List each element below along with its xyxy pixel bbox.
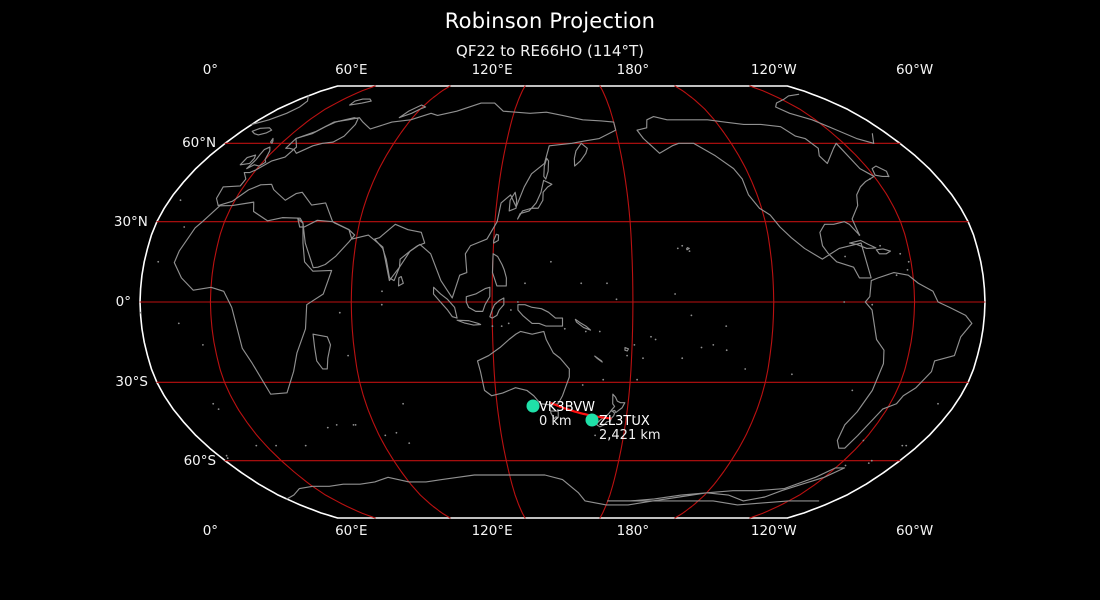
coastline-newfound (872, 166, 888, 176)
island-speck-20 (218, 408, 220, 410)
island-speck-11 (353, 424, 355, 426)
island-speck-63 (896, 274, 898, 276)
island-speck-47 (642, 357, 644, 359)
island-speck-72 (868, 462, 870, 464)
island-speck-74 (905, 445, 907, 447)
island-speck-23 (582, 384, 584, 386)
coastline-scandi (286, 118, 358, 154)
coastline-greenland (252, 96, 308, 124)
coastline-iceland (252, 128, 271, 135)
station-callsign-label-1: ZL3TUX (599, 414, 650, 429)
island-speck-14 (863, 440, 865, 442)
island-speck-43 (599, 331, 601, 333)
lon-tick-top-3: 180° (617, 62, 650, 78)
coastline-newcal (595, 356, 602, 362)
station-distance-label-0: 0 km (539, 414, 572, 429)
coastline-newguinea (518, 305, 563, 326)
island-speck-58 (681, 245, 683, 247)
island-speck-19 (327, 427, 329, 429)
coastline-kamchatka (574, 143, 587, 166)
island-speck-78 (384, 435, 386, 437)
island-speck-41 (492, 325, 494, 327)
station-marker-vk3bvw[interactable] (527, 400, 540, 413)
coastline-borneo (466, 287, 490, 311)
island-speck-37 (524, 282, 526, 284)
island-speck-76 (336, 424, 338, 426)
island-speck-30 (851, 390, 853, 392)
lat-tick-4: 60°S (0, 453, 216, 469)
island-speck-27 (725, 325, 727, 327)
island-speck-34 (606, 282, 608, 284)
island-speck-36 (550, 261, 552, 263)
island-speck-32 (871, 304, 873, 306)
island-speck-67 (869, 178, 871, 180)
coastline-greenland (776, 94, 874, 143)
coastline-fiji (625, 348, 629, 351)
island-speck-7 (381, 304, 383, 306)
lon-tick-top-5: 60°W (896, 62, 933, 78)
island-speck-48 (681, 357, 683, 359)
coastline-antarctica (287, 468, 845, 505)
island-speck-1 (178, 323, 180, 325)
coastline-java (457, 320, 481, 325)
island-speck-69 (212, 403, 214, 405)
island-speck-29 (791, 373, 793, 375)
island-speck-18 (255, 445, 257, 447)
coastline-india (375, 224, 425, 280)
island-speck-75 (937, 403, 939, 405)
island-speck-9 (347, 355, 349, 357)
island-speck-3 (180, 199, 182, 201)
island-speck-68 (888, 176, 890, 178)
coastline-eurasia (217, 103, 616, 298)
island-speck-24 (602, 379, 604, 381)
island-speck-8 (339, 312, 341, 314)
lon-tick-top-0: 0° (203, 62, 218, 78)
lon-tick-bottom-1: 60°E (335, 523, 367, 539)
island-speck-49 (634, 344, 636, 346)
island-speck-54 (674, 293, 676, 295)
island-speck-39 (510, 309, 512, 311)
coastline-gbritain_small (271, 139, 273, 144)
island-speck-42 (501, 325, 503, 327)
island-speck-17 (871, 460, 873, 462)
island-speck-13 (402, 403, 404, 405)
island-speck-28 (744, 368, 746, 370)
lon-tick-top-4: 120°W (751, 62, 797, 78)
coastline-australia (478, 331, 570, 405)
lat-tick-1: 30°N (0, 214, 148, 230)
coastline-hawaii (687, 248, 690, 250)
island-speck-25 (655, 339, 657, 341)
island-speck-66 (859, 234, 861, 236)
island-speck-51 (712, 344, 714, 346)
island-speck-31 (843, 301, 845, 303)
island-speck-53 (691, 315, 693, 317)
island-speck-60 (899, 253, 901, 255)
station-callsign-label-0: VK3BVW (539, 400, 595, 415)
island-speck-59 (689, 250, 691, 252)
island-speck-61 (908, 261, 910, 263)
lon-tick-top-2: 120°E (472, 62, 513, 78)
island-speck-65 (844, 256, 846, 258)
island-speck-70 (275, 445, 277, 447)
lon-tick-bottom-4: 120°W (751, 523, 797, 539)
coastline-srilanka (399, 277, 404, 286)
coastline-solomon (575, 319, 590, 330)
lat-tick-2: 0° (0, 294, 131, 310)
robinson-map (0, 0, 1100, 600)
coastline-ireland (240, 155, 255, 165)
island-speck-52 (726, 349, 728, 351)
coastline-africa (174, 202, 331, 394)
island-speck-64 (879, 245, 881, 247)
island-speck-2 (202, 344, 204, 346)
coastline-uk (247, 147, 270, 169)
island-speck-40 (508, 323, 510, 325)
coastline-namerica (637, 117, 874, 278)
island-speck-44 (585, 331, 587, 333)
island-speck-15 (901, 445, 903, 447)
lon-tick-bottom-3: 180° (617, 523, 650, 539)
island-speck-0 (140, 312, 142, 314)
lon-tick-bottom-5: 60°W (896, 523, 933, 539)
coastline-hispaniola (876, 249, 890, 254)
island-speck-12 (396, 432, 398, 434)
figure-canvas: Robinson Projection QF22 to RE66HO (114°… (0, 0, 1100, 600)
coastline-philippines (492, 254, 506, 286)
island-speck-21 (594, 435, 596, 437)
lon-tick-top-1: 60°E (335, 62, 367, 78)
island-speck-50 (650, 336, 652, 338)
island-speck-45 (564, 328, 566, 330)
island-speck-46 (626, 355, 628, 357)
coastline-sval (350, 99, 372, 105)
island-speck-73 (226, 455, 228, 457)
island-speck-79 (305, 445, 307, 447)
island-speck-71 (845, 465, 847, 467)
lon-tick-bottom-0: 0° (203, 523, 218, 539)
coastline-greenland (872, 134, 873, 144)
island-speck-77 (355, 424, 357, 426)
island-speck-33 (580, 282, 582, 284)
coastline-sumatra (434, 287, 458, 318)
station-distance-label-1: 2,421 km (599, 428, 661, 443)
island-speck-26 (701, 347, 703, 349)
lat-tick-0: 60°N (0, 135, 216, 151)
island-speck-56 (636, 379, 638, 381)
island-speck-16 (227, 457, 229, 459)
station-marker-zl3tux[interactable] (586, 414, 599, 427)
island-speck-38 (517, 301, 519, 303)
lon-tick-bottom-2: 120°E (472, 523, 513, 539)
coastline-samerica (837, 273, 972, 449)
island-speck-10 (408, 442, 410, 444)
island-speck-62 (907, 269, 909, 271)
island-speck-4 (183, 226, 185, 228)
lat-tick-3: 30°S (0, 374, 148, 390)
coastline-japan (518, 180, 552, 219)
island-speck-5 (157, 261, 159, 263)
island-speck-6 (381, 290, 383, 292)
island-speck-57 (677, 248, 679, 250)
coastline-arabia_red (298, 218, 355, 267)
coastline-madagascar (313, 334, 330, 369)
coastline-nz_north (611, 394, 625, 412)
island-speck-35 (616, 298, 618, 300)
